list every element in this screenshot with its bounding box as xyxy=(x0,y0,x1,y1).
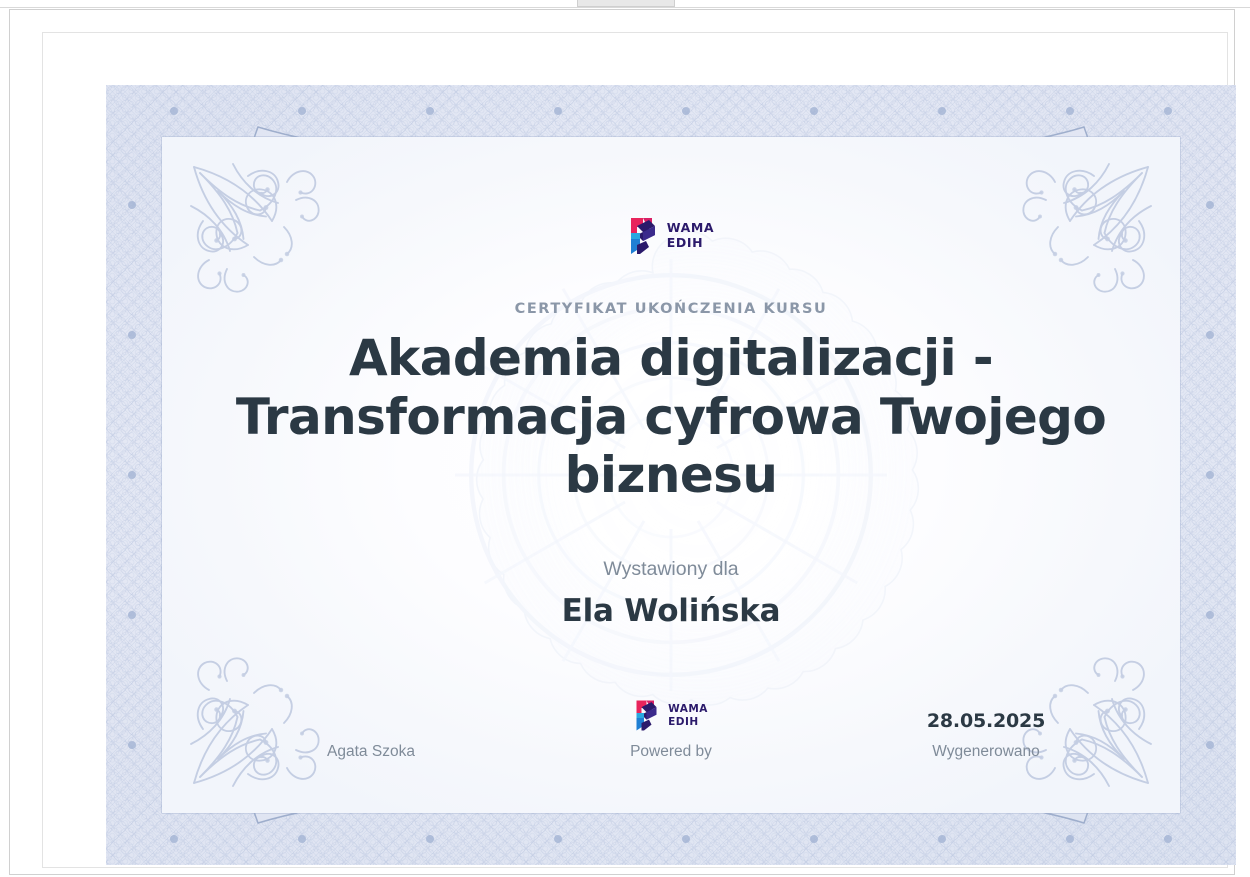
wama-edih-logo-icon xyxy=(634,698,659,733)
brand-logo-footer: WAMA EDIH xyxy=(634,698,708,733)
toolbar-sliver xyxy=(577,0,675,7)
course-title: Akademia digitalizacji - Transformacja c… xyxy=(231,329,1111,505)
certificate-kicker: CERTYFIKAT UKOŃCZENIA KURSU xyxy=(515,301,828,317)
brand-logo-header: WAMA EDIH xyxy=(628,215,714,257)
top-divider-rule xyxy=(0,7,1250,8)
recipient-name: Ela Wolińska xyxy=(562,593,781,629)
wama-edih-logo-icon xyxy=(628,215,658,257)
brand-wordmark: WAMA EDIH xyxy=(668,703,708,728)
page-inner-frame: WAMA EDIH CERTYFIKAT UKOŃCZENIA KURSU Ak… xyxy=(42,32,1228,868)
generated-label: Wygenerowano xyxy=(932,743,1040,761)
page-sheet: WAMA EDIH CERTYFIKAT UKOŃCZENIA KURSU Ak… xyxy=(9,9,1235,875)
certificate-canvas: WAMA EDIH CERTYFIKAT UKOŃCZENIA KURSU Ak… xyxy=(106,85,1236,865)
footer-signer: Agata Szoka xyxy=(251,743,491,761)
brand-name-line2: EDIH xyxy=(667,236,714,251)
brand-wordmark: WAMA EDIH xyxy=(667,221,714,251)
brand-name-line2: EDIH xyxy=(668,716,708,728)
issued-for-label: Wystawiony dla xyxy=(603,558,738,581)
signer-name: Agata Szoka xyxy=(327,743,415,761)
brand-name-line1: WAMA xyxy=(668,703,708,715)
powered-by-label: Powered by xyxy=(630,743,712,761)
generated-date: 28.05.2025 xyxy=(927,710,1045,732)
brand-name-line1: WAMA xyxy=(667,221,714,236)
footer-generated: 28.05.2025 Wygenerowano xyxy=(866,710,1106,761)
footer-powered-by: WAMA EDIH Powered by xyxy=(521,698,821,761)
